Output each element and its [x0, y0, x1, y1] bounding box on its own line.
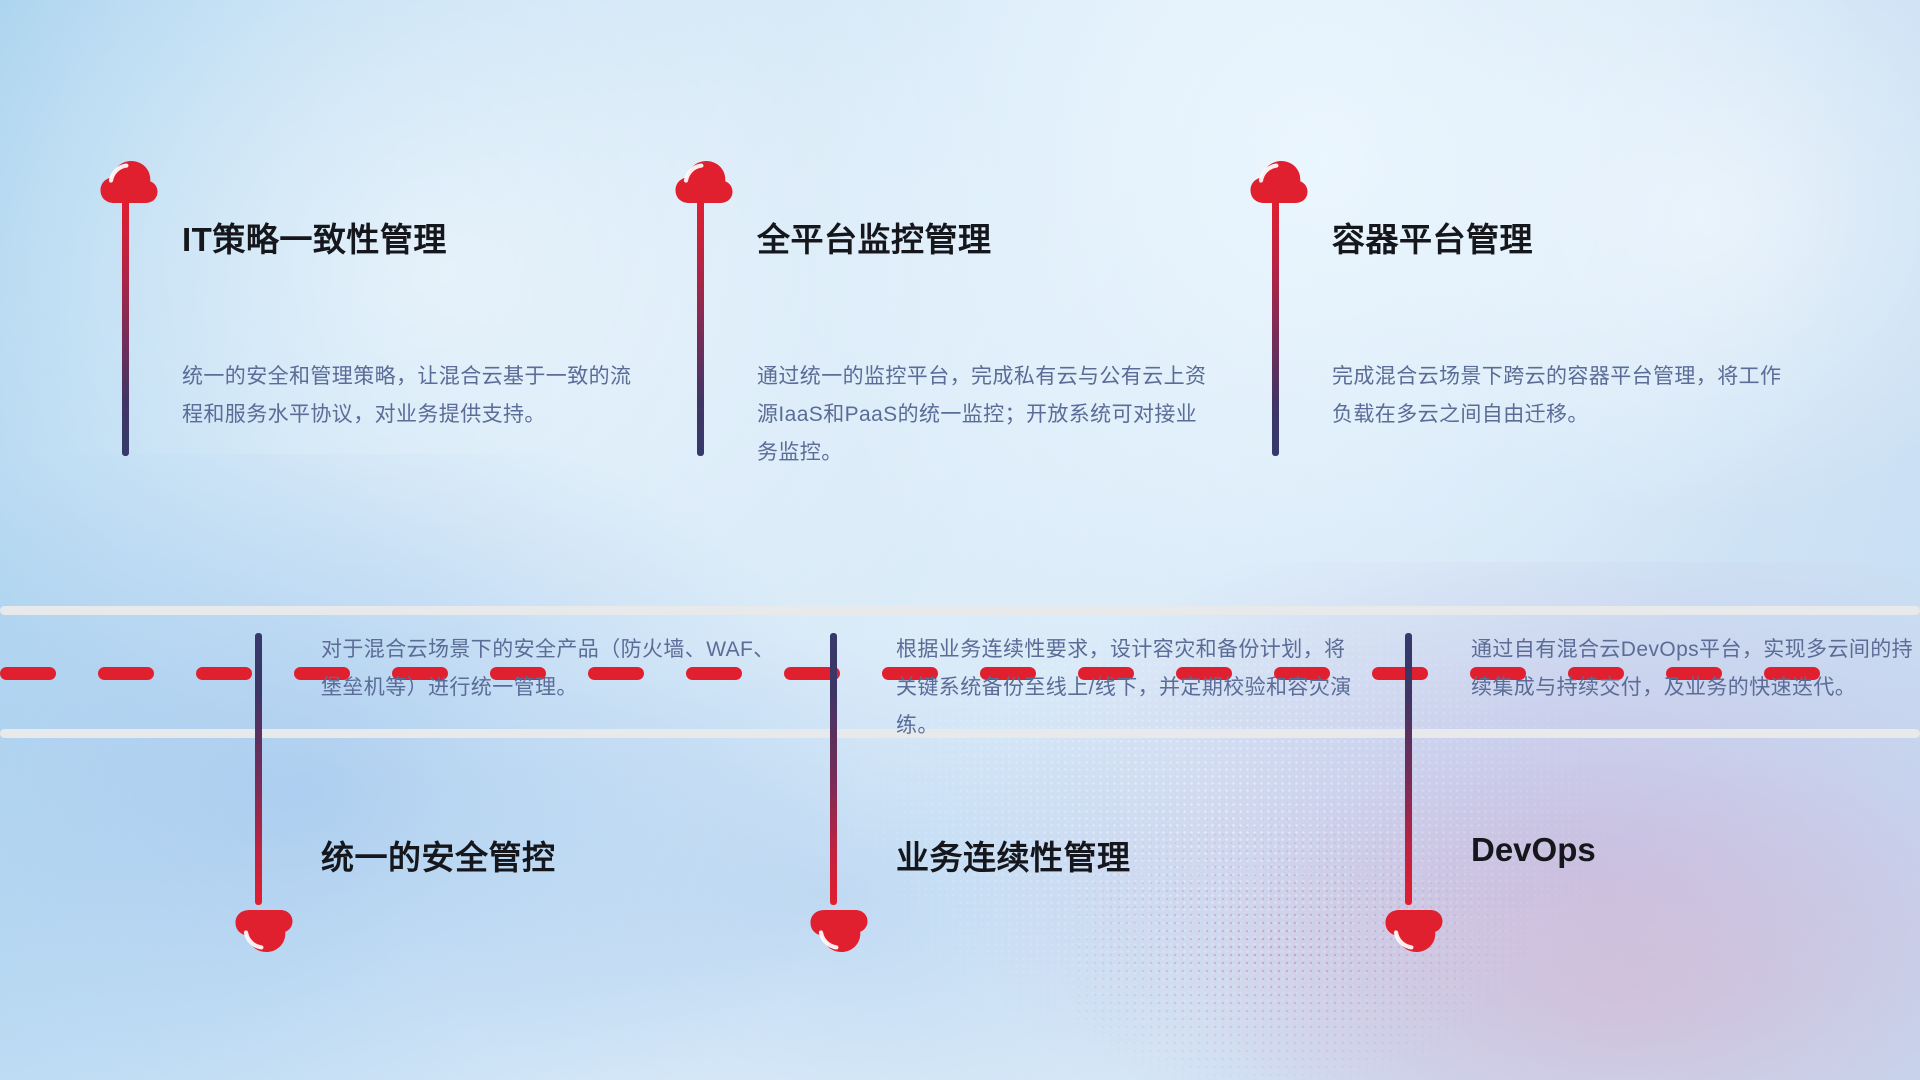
cloud-icon — [810, 909, 868, 953]
milestone-stem — [697, 198, 704, 456]
milestone-title: 业务连续性管理 — [896, 831, 1131, 879]
milestone-description: 通过统一的监控平台，完成私有云与公有云上资源IaaS和PaaS的统一监控；开放系… — [757, 358, 1217, 472]
milestone-description: 通过自有混合云DevOps平台，实现多云间的持续集成与持续交付，及业务的快速迭代… — [1471, 631, 1920, 707]
road-center-dash — [98, 667, 154, 680]
cloud-icon — [1250, 160, 1308, 204]
milestone-title: DevOps — [1471, 831, 1596, 869]
milestone-title: 统一的安全管控 — [321, 831, 556, 879]
road-edge-line-top — [0, 606, 1920, 615]
milestone-description: 统一的安全和管理策略，让混合云基于一致的流程和服务水平协议，对业务提供支持。 — [182, 358, 642, 434]
milestone-stem — [122, 198, 129, 456]
cloud-icon — [675, 160, 733, 204]
cloud-icon — [1385, 909, 1443, 953]
milestone-title: 全平台监控管理 — [757, 213, 992, 261]
infographic-canvas: IT策略一致性管理 统一的安全和管理策略，让混合云基于一致的流程和服务水平协议，… — [0, 0, 1920, 1080]
milestone-description: 根据业务连续性要求，设计容灾和备份计划，将关键系统备份至线上/线下，并定期校验和… — [896, 631, 1356, 745]
road-center-dash — [1372, 667, 1428, 680]
milestone-title: IT策略一致性管理 — [182, 213, 447, 261]
milestone-title: 容器平台管理 — [1332, 213, 1533, 261]
road-center-dash — [196, 667, 252, 680]
milestone-description: 对于混合云场景下的安全产品（防火墙、WAF、堡垒机等）进行统一管理。 — [321, 631, 781, 707]
milestone-stem — [255, 633, 262, 905]
cloud-icon — [100, 160, 158, 204]
cloud-icon — [235, 909, 293, 953]
milestone-stem — [1405, 633, 1412, 905]
milestone-stem — [1272, 198, 1279, 456]
road-center-dash — [0, 667, 56, 680]
milestone-stem — [830, 633, 837, 905]
milestone-description: 完成混合云场景下跨云的容器平台管理，将工作负载在多云之间自由迁移。 — [1332, 358, 1792, 434]
